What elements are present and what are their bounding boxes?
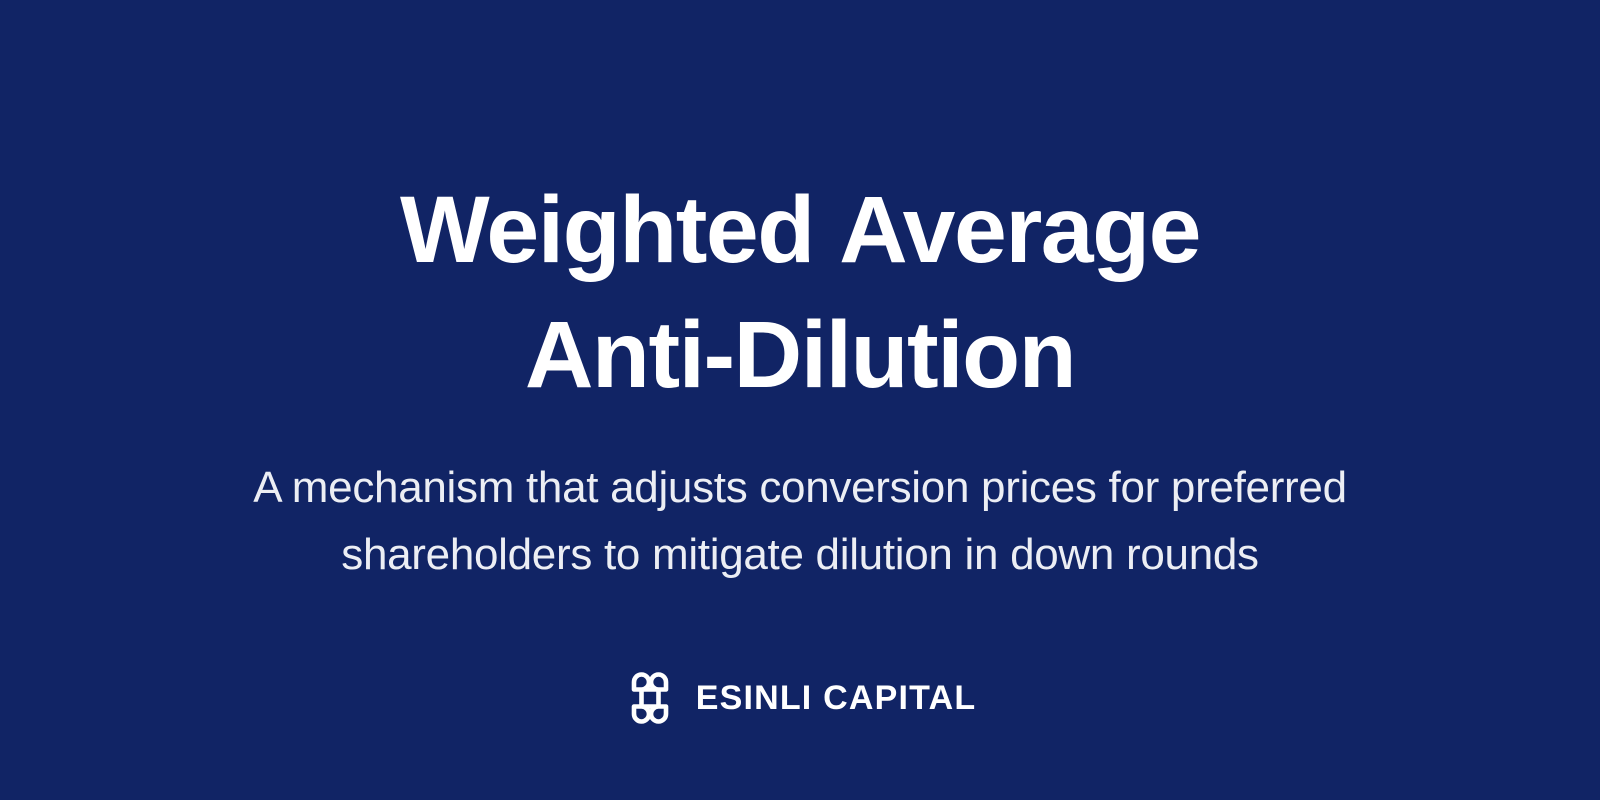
brand-lockup: ESINLI CAPITAL: [0, 672, 1600, 724]
page-subtitle: A mechanism that adjusts conversion pric…: [210, 454, 1390, 588]
page-title-line-2: Anti-Dilution: [525, 302, 1075, 408]
brand-name: ESINLI CAPITAL: [696, 678, 977, 718]
command-icon: [624, 672, 676, 724]
slide-content: Weighted Average Anti-Dilution A mechani…: [0, 168, 1600, 588]
page-title: Weighted Average Anti-Dilution: [200, 168, 1400, 418]
page-title-line-1: Weighted Average: [400, 177, 1200, 283]
title-slide: Weighted Average Anti-Dilution A mechani…: [0, 0, 1600, 800]
